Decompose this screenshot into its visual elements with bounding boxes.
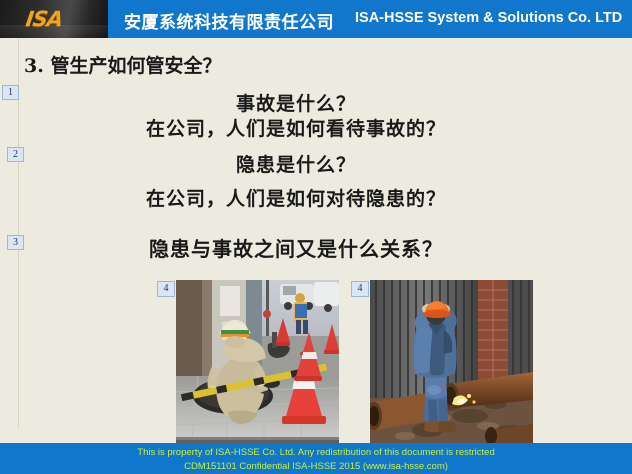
question-line-5: 隐患与事故之间又是什么关系？ <box>0 233 632 262</box>
logo-panel: ISA <box>0 0 108 38</box>
outline-marker-4-right[interactable]: 4 <box>351 281 369 297</box>
question-line-2: 在公司，人们是如何看待事故的？ <box>0 114 632 141</box>
company-name-english: ISA-HSSE System & Solutions Co. LTD <box>355 10 622 26</box>
question-line-3: 隐患是什么？ <box>0 150 632 177</box>
isa-logo-icon: ISA <box>24 7 64 31</box>
question-line-4: 在公司，人们是如何对待隐患的？ <box>0 184 632 211</box>
slide-footer: This is property of ISA-HSSE Co. Ltd. An… <box>0 443 632 474</box>
company-name-chinese: 安厦系统科技有限责任公司 <box>124 8 334 33</box>
slide-title: 3. 管生产如何管安全？ <box>24 51 221 78</box>
photo-worker-kneeling-street <box>176 280 339 443</box>
presentation-slide: ISA 安厦系统科技有限责任公司 ISA-HSSE System & Solut… <box>0 0 632 474</box>
footer-copyright-line: This is property of ISA-HSSE Co. Ltd. An… <box>0 443 632 459</box>
slide-header: ISA 安厦系统科技有限责任公司 ISA-HSSE System & Solut… <box>0 0 632 38</box>
question-line-1: 事故是什么？ <box>0 89 632 116</box>
photo-worker-orange-helmet-pipes <box>370 280 533 443</box>
footer-document-id-line: CDM151101 Confidential ISA-HSSE 2015 (ww… <box>0 459 632 473</box>
outline-marker-4-left[interactable]: 4 <box>157 281 175 297</box>
